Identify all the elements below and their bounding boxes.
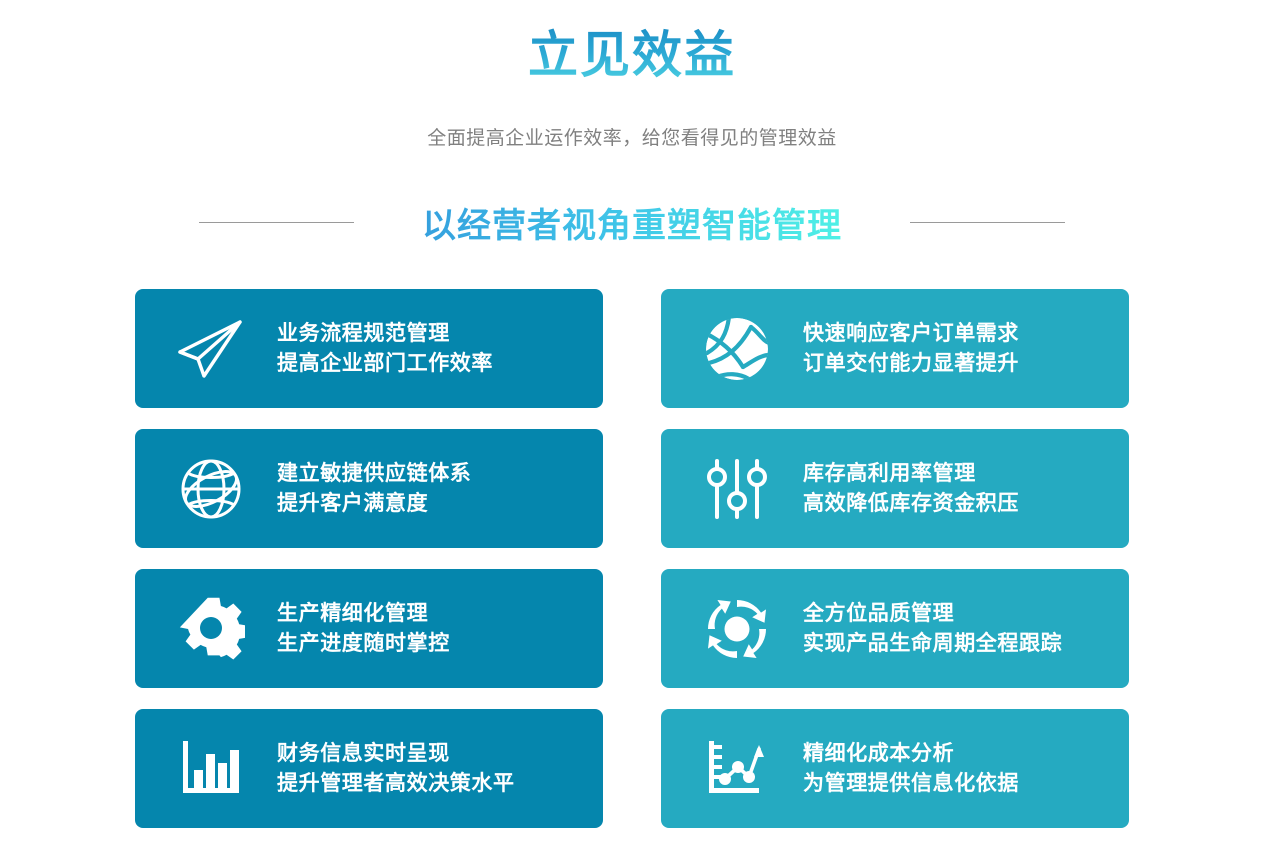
benefit-card[interactable]: 业务流程规范管理 提高企业部门工作效率 <box>135 289 603 408</box>
benefit-card-text: 财务信息实时呈现 提升管理者高效决策水平 <box>277 739 515 799</box>
benefit-card-line2: 订单交付能力显著提升 <box>803 349 1019 379</box>
benefit-card-text: 业务流程规范管理 提高企业部门工作效率 <box>277 319 493 379</box>
benefit-card-line2: 生产进度随时掌控 <box>277 629 450 659</box>
section-heading-row: 以经营者视角重塑智能管理 <box>0 198 1264 247</box>
section-title: 以经营者视角重塑智能管理 <box>422 198 842 247</box>
benefit-card-text: 库存高利用率管理 高效降低库存资金积压 <box>803 459 1019 519</box>
benefit-card-text: 精细化成本分析 为管理提供信息化依据 <box>803 739 1019 799</box>
network-globe-icon <box>699 311 775 387</box>
benefit-card-line1: 库存高利用率管理 <box>803 459 1019 489</box>
benefit-card-line2: 实现产品生命周期全程跟踪 <box>803 629 1062 659</box>
benefit-card[interactable]: 生产精细化管理 生产进度随时掌控 <box>135 569 603 688</box>
benefit-card-line1: 全方位品质管理 <box>803 599 1062 629</box>
benefit-card-line2: 提升管理者高效决策水平 <box>277 769 515 799</box>
benefit-card-grid: 业务流程规范管理 提高企业部门工作效率 <box>135 289 1129 828</box>
bar-chart-icon <box>173 731 249 807</box>
benefit-card-text: 生产精细化管理 生产进度随时掌控 <box>277 599 450 659</box>
benefit-card-line1: 精细化成本分析 <box>803 739 1019 769</box>
benefit-card-text: 快速响应客户订单需求 订单交付能力显著提升 <box>803 319 1019 379</box>
benefit-card-line2: 高效降低库存资金积压 <box>803 489 1019 519</box>
benefit-card[interactable]: 全方位品质管理 实现产品生命周期全程跟踪 <box>661 569 1129 688</box>
benefit-card-line1: 业务流程规范管理 <box>277 319 493 349</box>
benefit-card-text: 全方位品质管理 实现产品生命周期全程跟踪 <box>803 599 1062 659</box>
benefit-card-line2: 提高企业部门工作效率 <box>277 349 493 379</box>
line-chart-arrow-icon <box>699 731 775 807</box>
benefit-card[interactable]: 财务信息实时呈现 提升管理者高效决策水平 <box>135 709 603 828</box>
benefit-card[interactable]: 精细化成本分析 为管理提供信息化依据 <box>661 709 1129 828</box>
paper-plane-icon <box>173 311 249 387</box>
benefit-card-line1: 建立敏捷供应链体系 <box>277 459 471 489</box>
benefit-card-text: 建立敏捷供应链体系 提升客户满意度 <box>277 459 471 519</box>
benefit-card-line2: 提升客户满意度 <box>277 489 471 519</box>
benefit-card[interactable]: 快速响应客户订单需求 订单交付能力显著提升 <box>661 289 1129 408</box>
benefit-card-line2: 为管理提供信息化依据 <box>803 769 1019 799</box>
sliders-icon <box>699 451 775 527</box>
divider-rule-left <box>199 222 354 223</box>
benefit-card[interactable]: 建立敏捷供应链体系 提升客户满意度 <box>135 429 603 548</box>
benefit-card-line1: 财务信息实时呈现 <box>277 739 515 769</box>
gear-icon <box>173 591 249 667</box>
page-subtitle: 全面提高企业运作效率，给您看得见的管理效益 <box>0 123 1264 150</box>
divider-rule-right <box>910 222 1065 223</box>
wireframe-globe-icon <box>173 451 249 527</box>
benefit-card-line1: 快速响应客户订单需求 <box>803 319 1019 349</box>
page-title: 立见效益 <box>0 26 1264 85</box>
benefit-card[interactable]: 库存高利用率管理 高效降低库存资金积压 <box>661 429 1129 548</box>
benefit-card-line1: 生产精细化管理 <box>277 599 450 629</box>
refresh-cycle-icon <box>699 591 775 667</box>
hero-section: 立见效益 全面提高企业运作效率，给您看得见的管理效益 <box>0 0 1264 150</box>
